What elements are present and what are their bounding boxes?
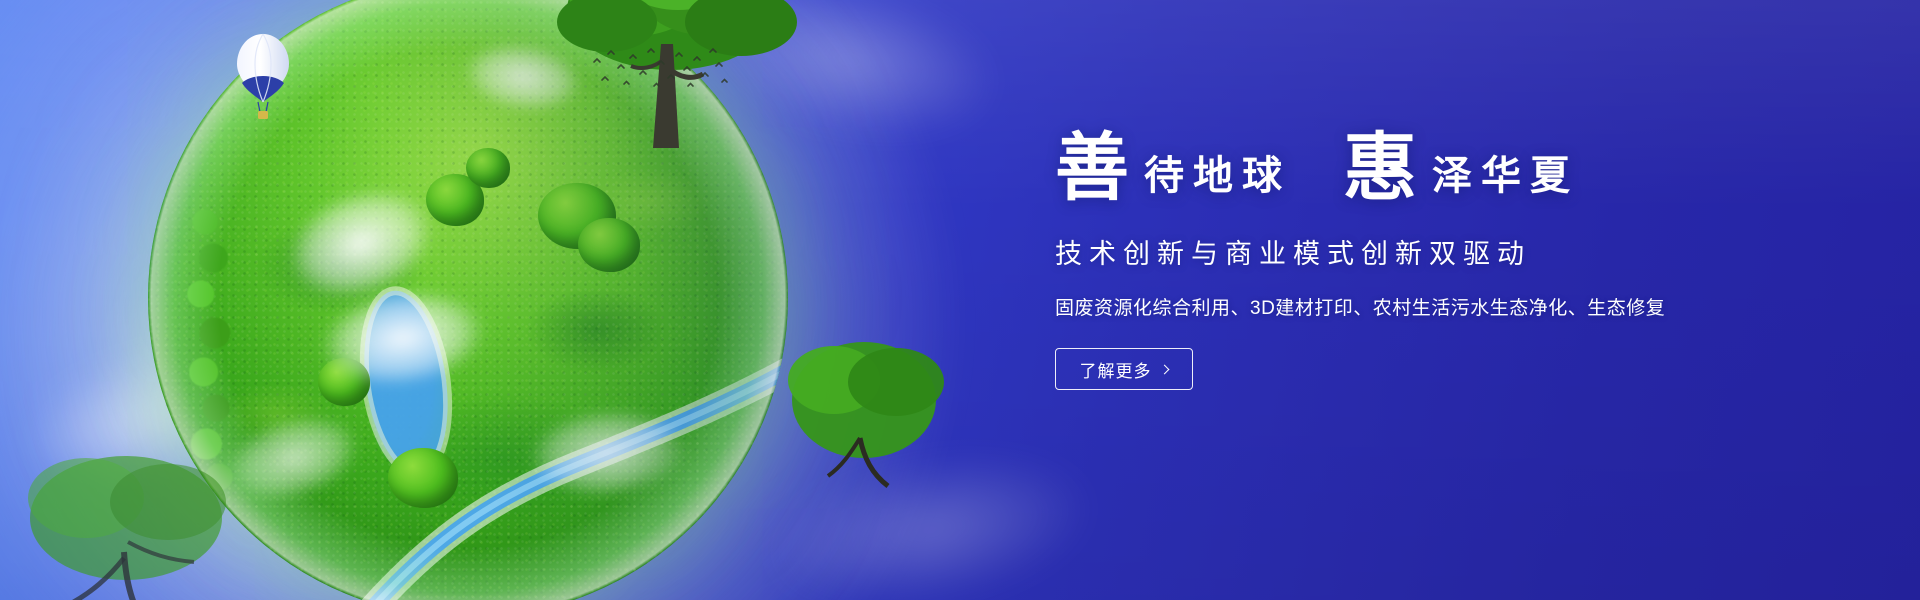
headline: 善 待地球 惠 泽华夏 xyxy=(1055,130,1815,204)
chevron-right-icon xyxy=(1159,364,1169,374)
planet-bush xyxy=(388,448,458,508)
description: 固废资源化综合利用、3D建材打印、农村生活污水生态净化、生态修复 xyxy=(1055,293,1815,320)
planet-bush xyxy=(578,218,640,272)
headline-char-2: 惠 xyxy=(1343,132,1418,206)
subtitle: 技术创新与商业模式创新双驱动 xyxy=(1055,232,1815,271)
hero-banner: 善 待地球 惠 泽华夏 技术创新与商业模式创新双驱动 固废资源化综合利用、3D建… xyxy=(0,0,1920,600)
learn-more-label: 了解更多 xyxy=(1080,357,1152,382)
banner-content: 善 待地球 惠 泽华夏 技术创新与商业模式创新双驱动 固废资源化综合利用、3D建… xyxy=(1055,130,1815,390)
planet-bush xyxy=(466,148,510,188)
hot-air-balloon-icon xyxy=(232,32,294,124)
headline-char-1: 善 xyxy=(1055,132,1130,206)
learn-more-button[interactable]: 了解更多 xyxy=(1055,348,1193,390)
headline-phrase-1: 待地球 xyxy=(1130,156,1291,196)
headline-phrase-2: 泽华夏 xyxy=(1418,156,1579,196)
bird-flock-icon xyxy=(588,46,728,94)
